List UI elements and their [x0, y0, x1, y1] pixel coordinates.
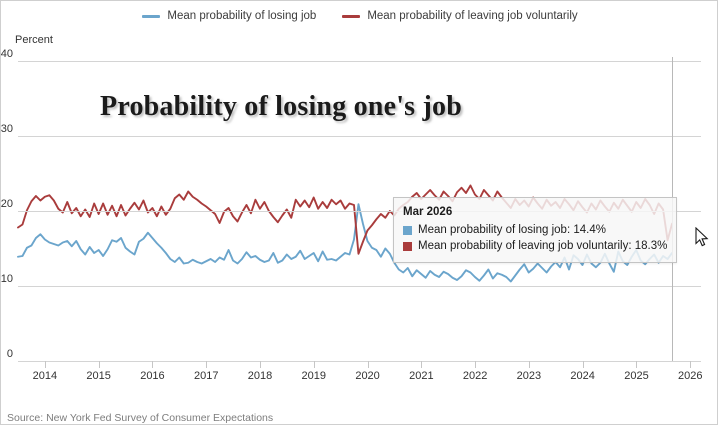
tooltip-label-leaving-job: Mean probability of leaving job voluntar… [418, 238, 667, 255]
x-tick-2022 [475, 361, 476, 368]
tooltip-row-leaving-job: Mean probability of leaving job voluntar… [403, 238, 667, 255]
x-tick-2015 [99, 361, 100, 368]
x-tick-label-2025: 2025 [624, 370, 648, 382]
x-tick-label-2016: 2016 [140, 370, 164, 382]
y-tick-label-30: 30 [0, 123, 13, 135]
x-tick-2026 [690, 361, 691, 368]
tooltip-date: Mar 2026 [403, 204, 667, 221]
tooltip-row-losing-job: Mean probability of losing job: 14.4% [403, 222, 667, 239]
x-tick-label-2022: 2022 [463, 370, 487, 382]
square-swatch-blue-icon [403, 226, 412, 235]
y-axis-title: Percent [15, 34, 53, 46]
y-tick-label-40: 40 [0, 48, 13, 60]
x-tick-2023 [529, 361, 530, 368]
x-tick-2020 [368, 361, 369, 368]
gridline-0 [18, 361, 701, 362]
line-swatch-blue-icon [142, 15, 160, 18]
x-tick-2014 [45, 361, 46, 368]
x-tick-2018 [260, 361, 261, 368]
x-tick-label-2020: 2020 [355, 370, 379, 382]
legend-label-losing-job: Mean probability of losing job [167, 10, 316, 22]
x-tick-2017 [206, 361, 207, 368]
line-swatch-red-icon [342, 15, 360, 18]
x-tick-label-2019: 2019 [302, 370, 326, 382]
x-tick-2021 [421, 361, 422, 368]
source-note: Source: New York Fed Survey of Consumer … [7, 412, 273, 424]
x-tick-2024 [583, 361, 584, 368]
x-tick-label-2014: 2014 [33, 370, 57, 382]
x-tick-label-2026: 2026 [678, 370, 702, 382]
y-tick-label-20: 20 [0, 198, 13, 210]
legend-label-leaving-job: Mean probability of leaving job voluntar… [367, 10, 577, 22]
legend-item-losing-job[interactable]: Mean probability of losing job [142, 10, 316, 22]
y-tick-label-10: 10 [0, 273, 13, 285]
chart-frame: Mean probability of losing job Mean prob… [0, 0, 718, 425]
x-tick-label-2021: 2021 [409, 370, 433, 382]
gridline-40 [18, 61, 701, 62]
x-tick-label-2024: 2024 [570, 370, 594, 382]
x-tick-2016 [152, 361, 153, 368]
chart-legend: Mean probability of losing job Mean prob… [1, 10, 718, 22]
y-tick-label-0: 0 [0, 348, 13, 360]
gridline-30 [18, 136, 701, 137]
x-tick-label-2023: 2023 [517, 370, 541, 382]
x-tick-label-2017: 2017 [194, 370, 218, 382]
x-tick-label-2018: 2018 [248, 370, 272, 382]
tooltip-label-losing-job: Mean probability of losing job: 14.4% [418, 222, 606, 239]
square-swatch-red-icon [403, 242, 412, 251]
legend-item-leaving-job[interactable]: Mean probability of leaving job voluntar… [342, 10, 577, 22]
x-tick-label-2015: 2015 [86, 370, 110, 382]
gridline-10 [18, 286, 701, 287]
x-tick-2025 [636, 361, 637, 368]
chart-tooltip: Mar 2026 Mean probability of losing job:… [393, 197, 677, 263]
x-tick-2019 [314, 361, 315, 368]
